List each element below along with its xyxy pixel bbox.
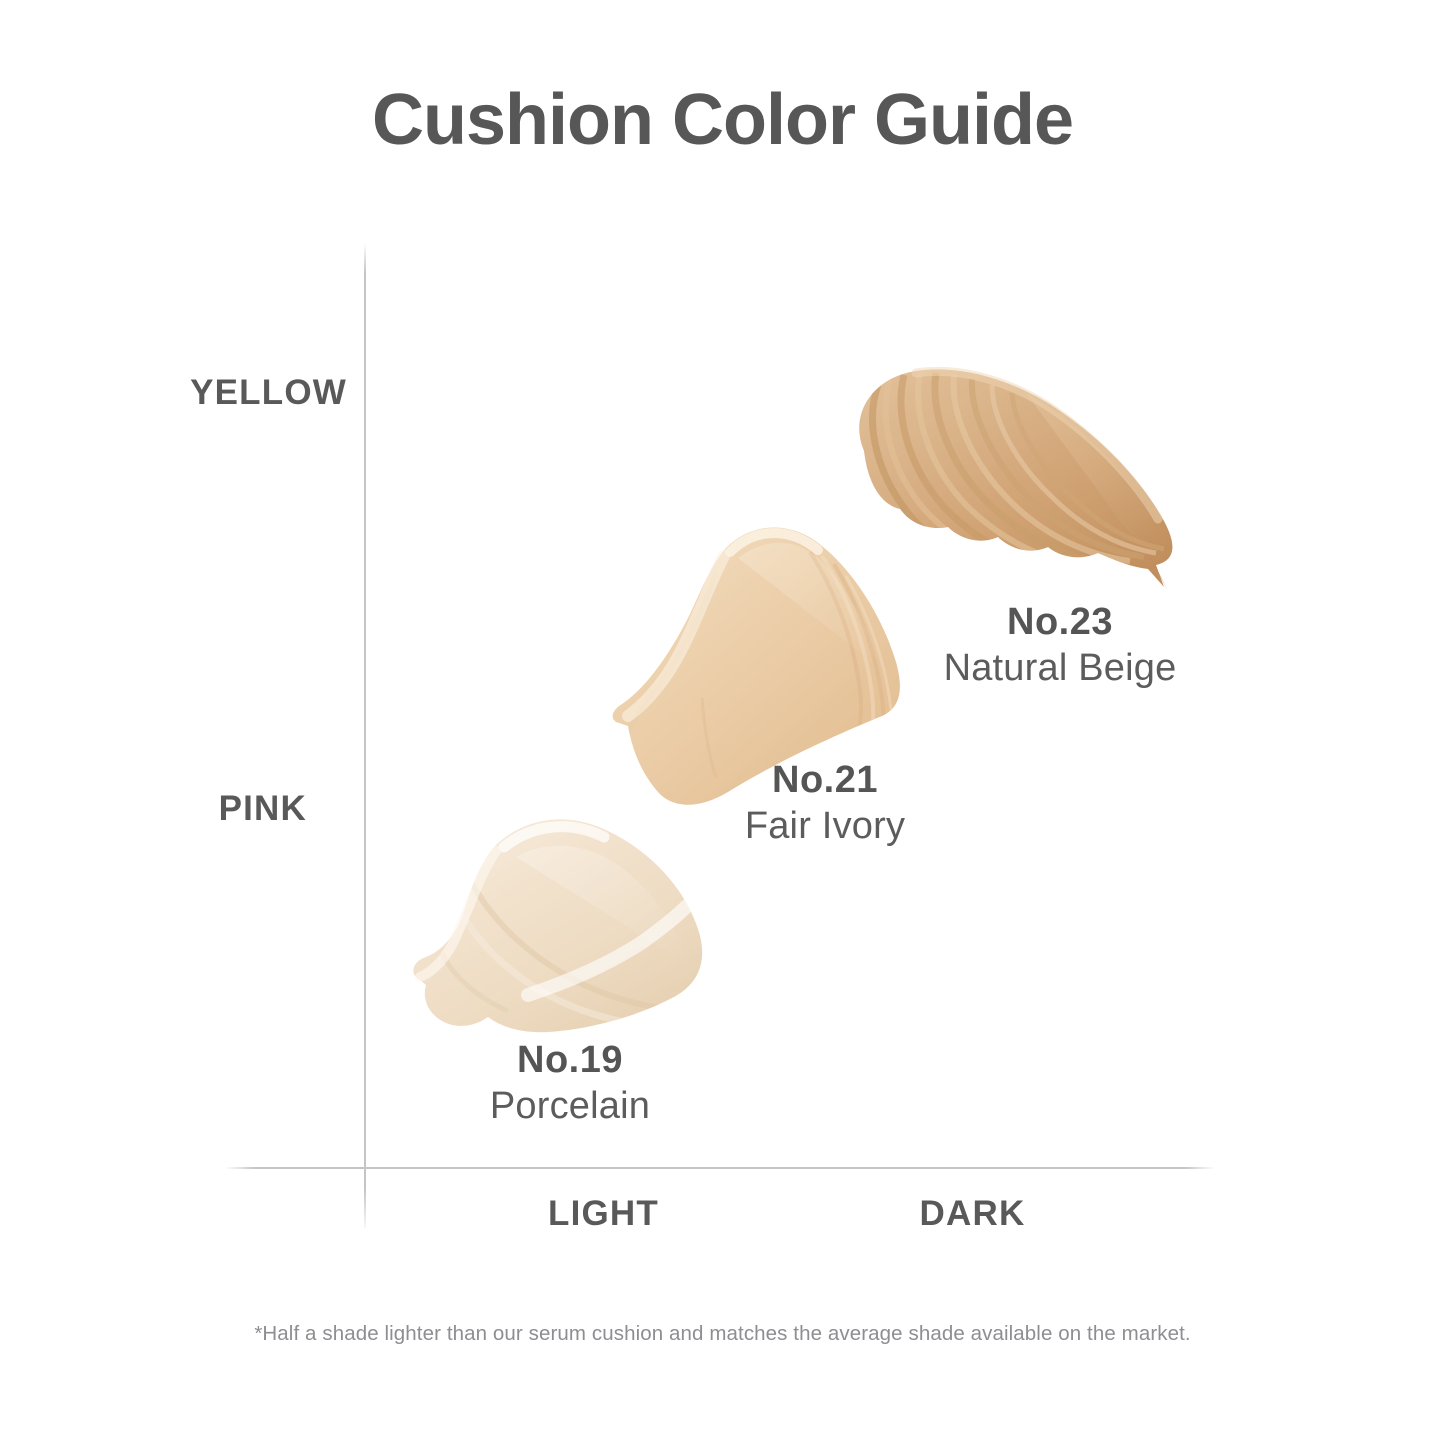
shade-name-no-21: Fair Ivory (645, 803, 1005, 849)
shade-code-no-21: No.21 (645, 758, 1005, 803)
shade-caption-no-19: No.19 Porcelain (390, 1038, 750, 1129)
page-title: Cushion Color Guide (0, 83, 1445, 159)
x-axis-label-dark: DARK (845, 1194, 1100, 1234)
y-axis-label-yellow: YELLOW (0, 373, 347, 413)
shade-name-no-19: Porcelain (390, 1083, 750, 1129)
shade-name-no-23: Natural Beige (875, 645, 1245, 691)
x-axis-label-light: LIGHT (466, 1194, 741, 1234)
shade-caption-no-23: No.23 Natural Beige (875, 600, 1245, 691)
y-axis-label-pink: PINK (0, 789, 307, 829)
shade-caption-no-21: No.21 Fair Ivory (645, 758, 1005, 849)
shade-code-no-23: No.23 (875, 600, 1245, 645)
shade-code-no-19: No.19 (390, 1038, 750, 1083)
y-axis-line (364, 243, 366, 1228)
cushion-color-guide-page: Cushion Color Guide YELLOW PINK LIGHT DA… (0, 0, 1445, 1445)
x-axis-line (225, 1167, 1215, 1169)
footnote-text: *Half a shade lighter than our serum cus… (0, 1322, 1445, 1346)
